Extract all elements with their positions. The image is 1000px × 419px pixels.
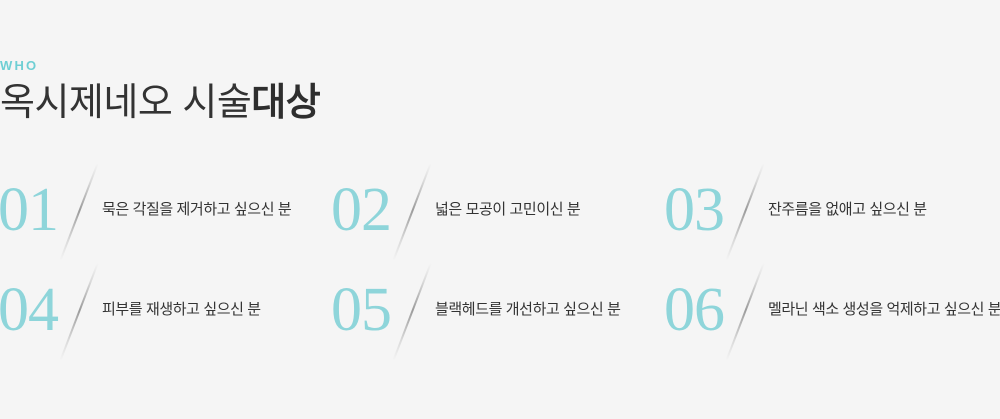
list-item: 02 넓은 모공이 고민이신 분 [333, 160, 666, 260]
list-item-number: 03 [664, 179, 726, 241]
page-title: 옥시제네오 시술대상 [0, 80, 600, 126]
who-section: WHO 옥시제네오 시술대상 01 묵은 각질을 제거하고 싶으신 분 02 넓… [0, 0, 1000, 419]
diagonal-slash-icon [726, 160, 766, 260]
list-item: 06 멜라닌 색소 생성을 억제하고 싶으신 분 [666, 260, 999, 360]
candidate-list: 01 묵은 각질을 제거하고 싶으신 분 02 넓은 모공이 고민이신 분 03… [0, 160, 1000, 360]
diagonal-slash-icon [60, 160, 100, 260]
section-header: WHO 옥시제네오 시술대상 [0, 58, 600, 126]
list-item: 01 묵은 각질을 제거하고 싶으신 분 [0, 160, 333, 260]
list-item-label: 잔주름을 없애고 싶으신 분 [768, 199, 999, 221]
list-item-number: 06 [664, 279, 726, 341]
list-item-label: 블랙헤드를 개선하고 싶으신 분 [435, 299, 666, 321]
list-item: 04 피부를 재생하고 싶으신 분 [0, 260, 333, 360]
diagonal-slash-icon [393, 160, 433, 260]
list-item: 03 잔주름을 없애고 싶으신 분 [666, 160, 999, 260]
list-item-label: 묵은 각질을 제거하고 싶으신 분 [102, 199, 333, 221]
diagonal-slash-icon [60, 260, 100, 360]
list-item: 05 블랙헤드를 개선하고 싶으신 분 [333, 260, 666, 360]
list-item-label: 멜라닌 색소 생성을 억제하고 싶으신 분 [768, 299, 1000, 321]
list-item-label: 피부를 재생하고 싶으신 분 [102, 299, 333, 321]
list-item-number: 01 [0, 179, 60, 241]
section-eyebrow-label: WHO [0, 58, 600, 74]
diagonal-slash-icon [393, 260, 433, 360]
list-item-number: 05 [331, 279, 393, 341]
page-title-strong-part: 대상 [251, 82, 320, 124]
list-item-number: 02 [331, 179, 393, 241]
list-item-number: 04 [0, 279, 60, 341]
page-title-light-part: 옥시제네오 시술 [0, 82, 251, 124]
diagonal-slash-icon [726, 260, 766, 360]
list-item-label: 넓은 모공이 고민이신 분 [435, 199, 666, 221]
